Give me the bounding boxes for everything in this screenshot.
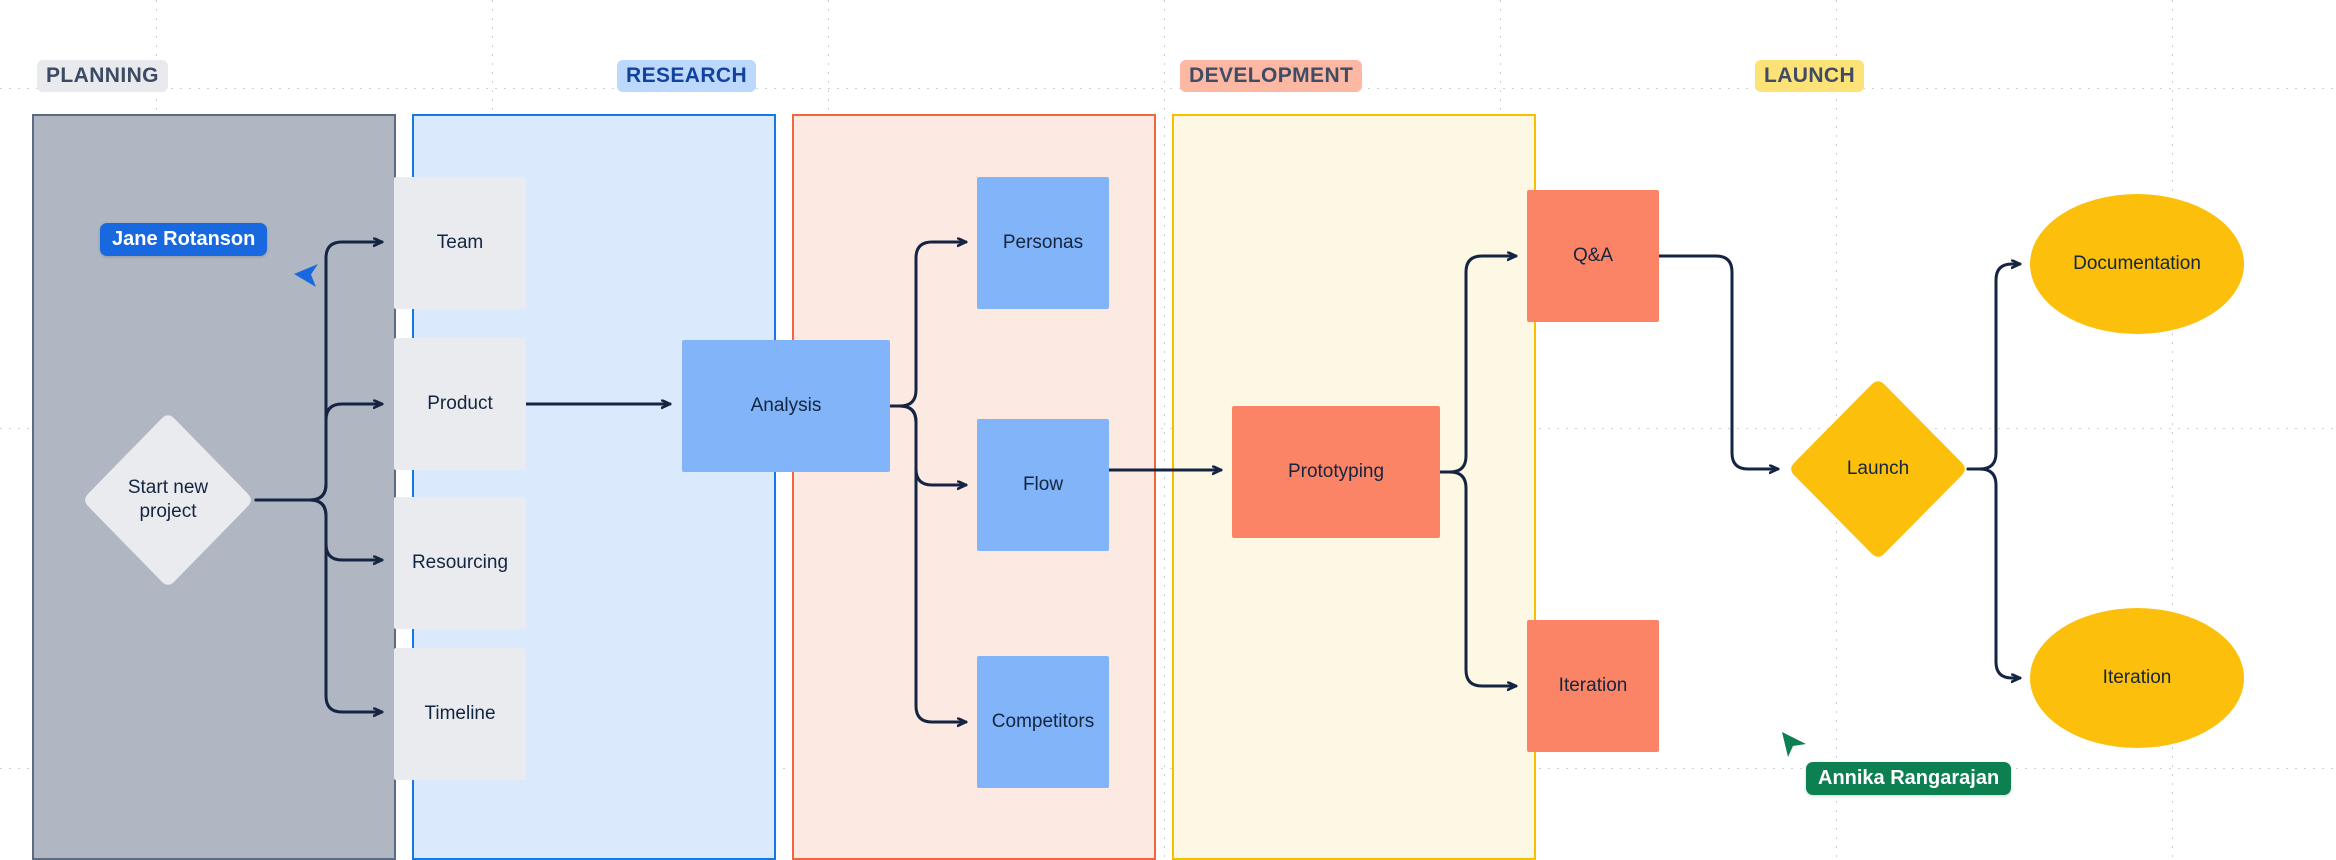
node-competitors[interactable]: Competitors bbox=[977, 656, 1109, 788]
swimlane-label-development[interactable]: DEVELOPMENT bbox=[1180, 60, 1362, 92]
swimlane-label-launch[interactable]: LAUNCH bbox=[1755, 60, 1864, 92]
swimlane-label-research[interactable]: RESEARCH bbox=[617, 60, 756, 92]
node-team[interactable]: Team bbox=[394, 177, 526, 309]
node-iteration-dev[interactable]: Iteration bbox=[1527, 620, 1659, 752]
node-personas[interactable]: Personas bbox=[977, 177, 1109, 309]
node-resourcing[interactable]: Resourcing bbox=[394, 497, 526, 629]
swimlane-label-planning[interactable]: PLANNING bbox=[37, 60, 168, 92]
cursor-arrow-shape bbox=[1782, 732, 1806, 757]
node-prototyping[interactable]: Prototyping bbox=[1232, 406, 1440, 538]
whiteboard-canvas[interactable]: PLANNINGRESEARCHDEVELOPMENTLAUNCH Start … bbox=[0, 0, 2336, 860]
grid-line-vertical bbox=[1164, 0, 1165, 860]
grid-line-horizontal bbox=[0, 88, 2336, 89]
node-analysis[interactable]: Analysis bbox=[682, 340, 890, 472]
connector-qa-to-launch[interactable] bbox=[1659, 256, 1778, 469]
connector-launch-to-documentation[interactable] bbox=[1968, 264, 2020, 469]
node-documentation[interactable]: Documentation bbox=[2030, 194, 2244, 334]
node-product[interactable]: Product bbox=[394, 338, 526, 470]
node-launch-decision[interactable]: Launch bbox=[1788, 378, 1968, 560]
node-start-new-project[interactable]: Start new project bbox=[82, 412, 254, 588]
cursor-name-badge-jane: Jane Rotanson bbox=[100, 223, 267, 256]
node-qa[interactable]: Q&A bbox=[1527, 190, 1659, 322]
cursor-pointer-icon-annika bbox=[1778, 730, 1812, 764]
node-flow[interactable]: Flow bbox=[977, 419, 1109, 551]
node-label-launch-decision: Launch bbox=[1788, 378, 1968, 560]
cursor-pointer-icon-jane bbox=[292, 260, 326, 294]
node-timeline[interactable]: Timeline bbox=[394, 648, 526, 780]
connector-launch-to-iteration[interactable] bbox=[1968, 469, 2020, 678]
node-label-start-new-project: Start new project bbox=[82, 412, 254, 588]
cursor-name-badge-annika: Annika Rangarajan bbox=[1806, 762, 2011, 795]
cursor-arrow-shape bbox=[294, 264, 318, 287]
node-iteration-launch[interactable]: Iteration bbox=[2030, 608, 2244, 748]
